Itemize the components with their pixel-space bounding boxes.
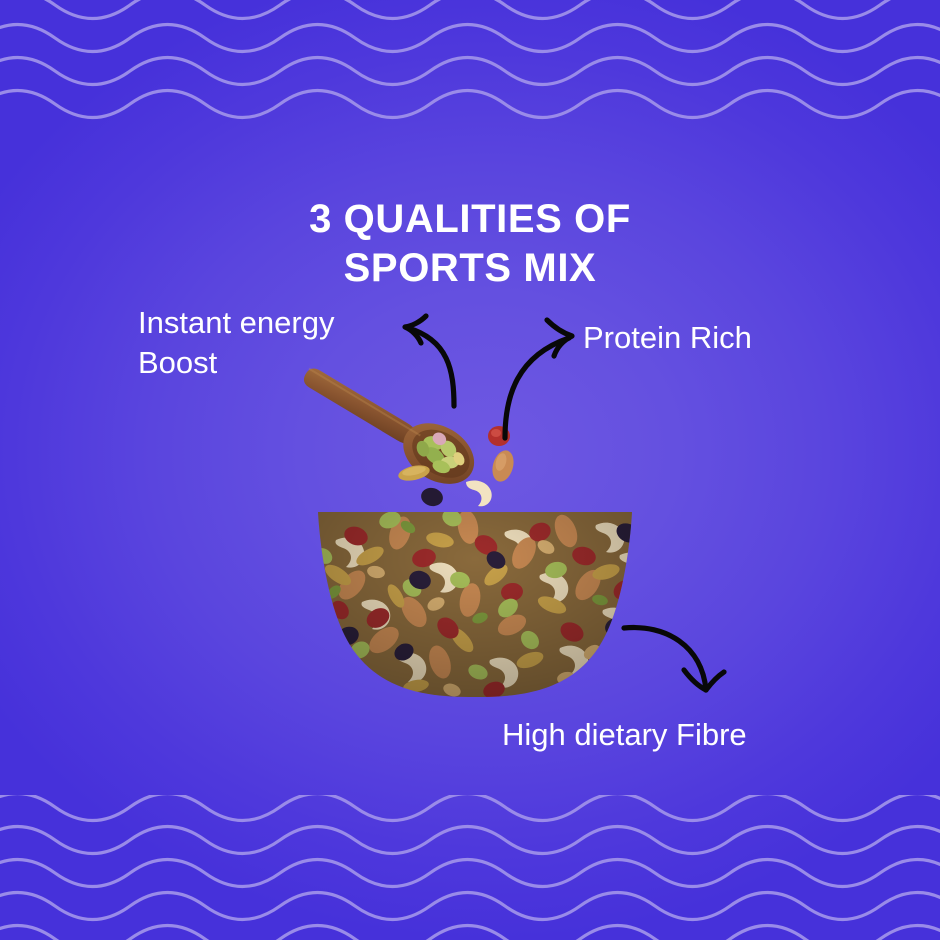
falling-mix-pieces [397,426,517,508]
arrow-to-protein-rich-icon [483,312,583,442]
falling-blueberry [419,486,445,509]
falling-cashew [466,480,492,506]
callout-instant-energy-boost: Instant energy Boost [138,303,334,382]
poster-canvas: 3 QUALITIES OFSPORTS MIX [0,0,940,940]
falling-cranberry [488,426,510,446]
trail-mix-illustration [0,0,940,940]
falling-golden-raisin [397,463,431,483]
falling-almond [489,448,517,484]
wave-pattern-top [0,0,940,135]
title-line-1: 3 QUALITIES OF [309,197,631,241]
title-line-2: SPORTS MIX [0,244,940,293]
trail-mix-mound [300,500,652,710]
page-title: 3 QUALITIES OFSPORTS MIX [0,195,940,293]
arrow-to-instant-energy-icon [392,310,472,410]
mound-ingredients [313,506,652,701]
callout-high-dietary-fibre: High dietary Fibre [502,715,747,755]
wave-pattern-bottom [0,795,940,940]
arrow-to-high-dietary-fibre-icon [618,614,728,704]
callout-protein-rich: Protein Rich [583,318,752,358]
spoon-contents [407,424,473,484]
